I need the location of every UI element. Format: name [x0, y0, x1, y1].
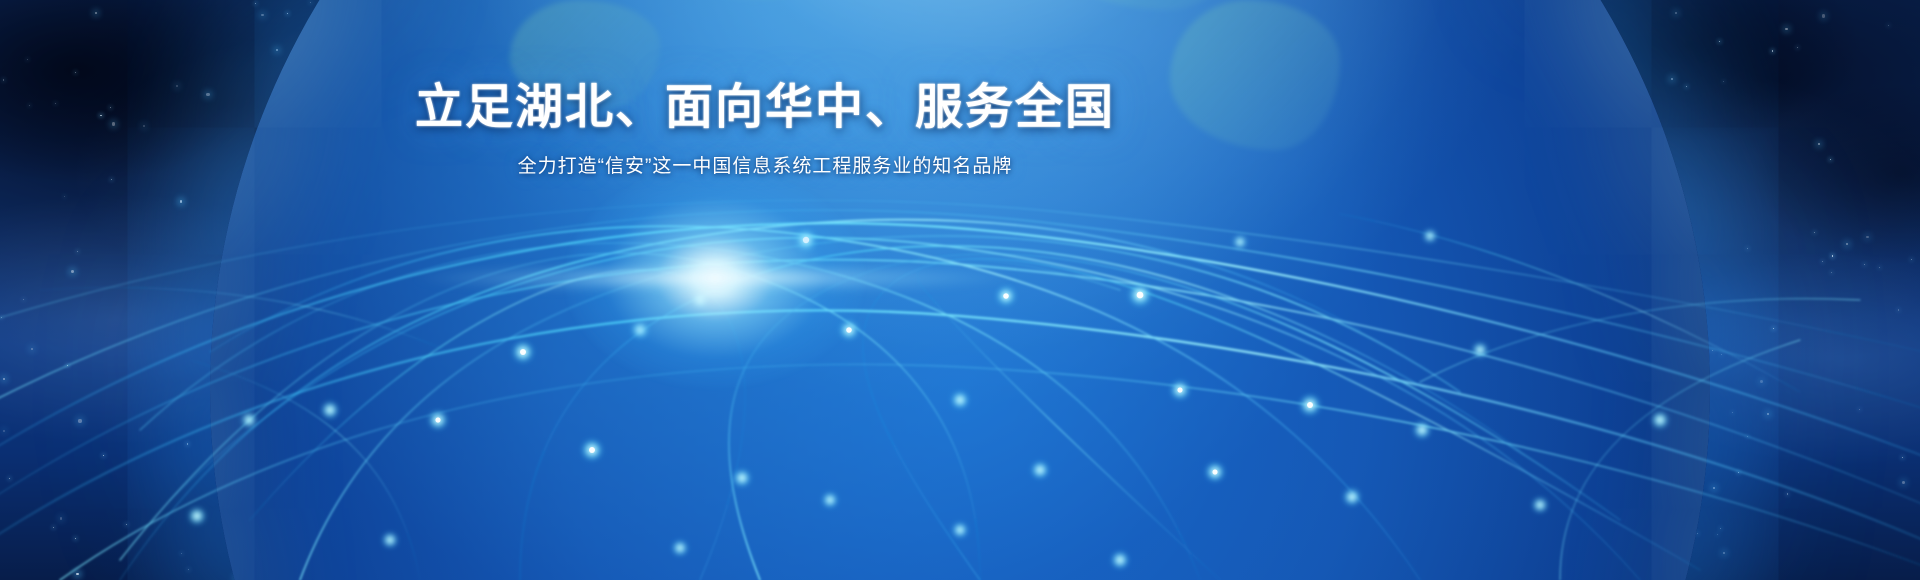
- page-title: 立足湖北、面向华中、服务全国: [0, 82, 1530, 135]
- center-glow-flare: [715, 278, 717, 280]
- hero-banner: 立足湖北、面向华中、服务全国 全力打造“信安”这一中国信息系统工程服务业的知名品…: [0, 0, 1920, 580]
- banner-copy: 立足湖北、面向华中、服务全国 全力打造“信安”这一中国信息系统工程服务业的知名品…: [0, 82, 1530, 179]
- page-subtitle: 全力打造“信安”这一中国信息系统工程服务业的知名品牌: [0, 155, 1530, 180]
